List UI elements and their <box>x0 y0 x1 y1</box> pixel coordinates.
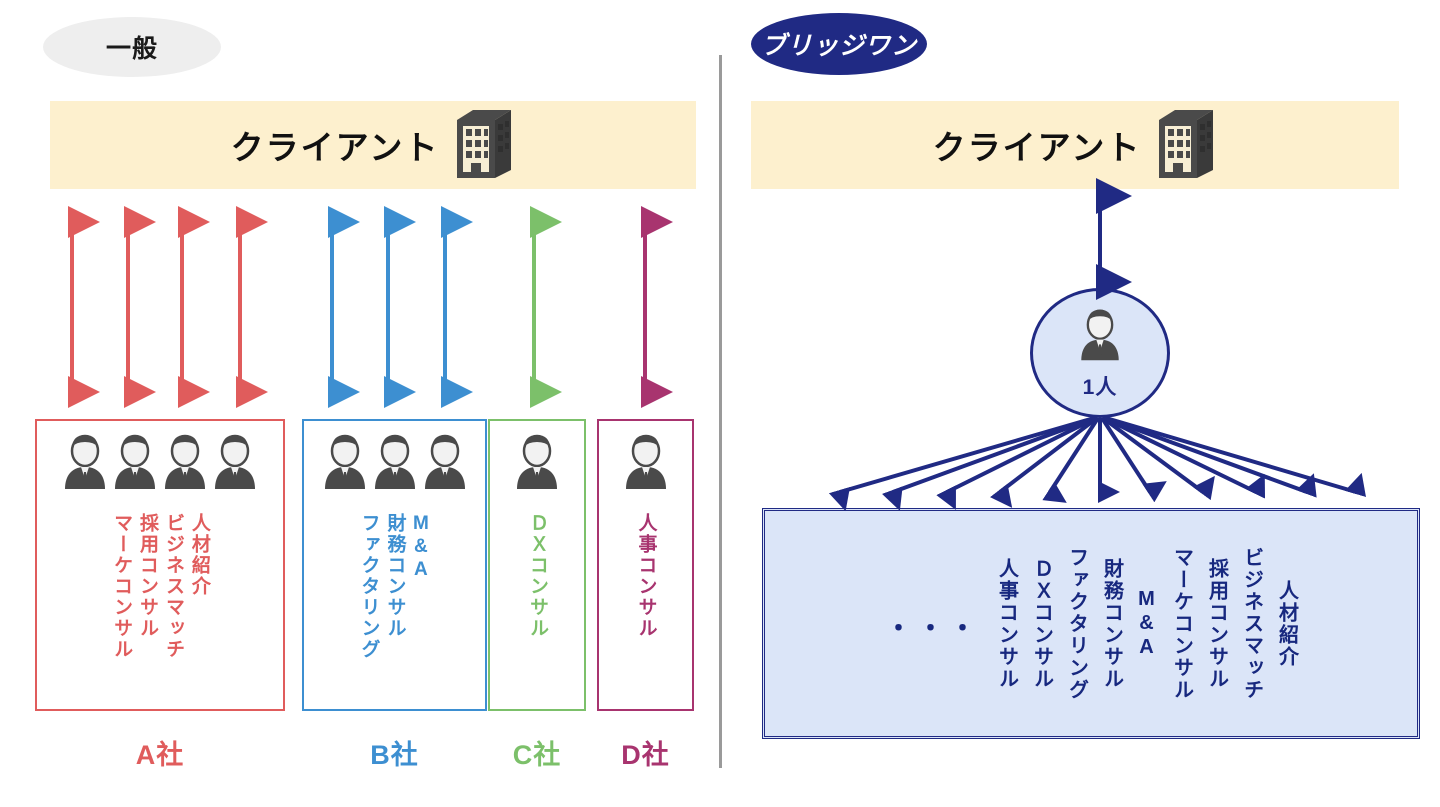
diagram-canvas: 一般 クライアント <box>0 0 1440 807</box>
businessperson-icon <box>515 431 559 498</box>
company-name-d: D社 <box>597 733 694 772</box>
service-label: ビジネスマッチ <box>1241 547 1262 701</box>
services-box-bridgeone: 人材紹介 ビジネスマッチ 採用コンサル マーケコンサル M&A 財務コンサル フ… <box>762 508 1420 739</box>
service-label: 採用コンサル <box>137 513 157 703</box>
company-b-person-group <box>304 431 485 498</box>
businessperson-icon <box>323 431 367 498</box>
service-label: 人事コンサル <box>996 558 1017 690</box>
company-name-c: C社 <box>488 733 586 772</box>
office-building-icon <box>453 104 515 187</box>
service-label: マーケコンサル <box>1171 547 1192 701</box>
businessperson-icon <box>1077 306 1123 369</box>
company-box-b: M&A 財務コンサル ファクタリング <box>302 419 487 711</box>
businessperson-icon <box>113 431 157 498</box>
company-d-service-labels: 人事コンサル <box>599 513 692 703</box>
services-more-indicator: ・・・ <box>885 608 981 645</box>
arrow-group-company-a <box>72 222 240 392</box>
hub-count-label: 1人 <box>1083 371 1118 401</box>
businessperson-icon <box>213 431 257 498</box>
section-badge-brand: ブリッジワン <box>751 13 927 75</box>
panel-divider <box>719 55 722 768</box>
arrow-group-company-b <box>332 222 445 392</box>
businessperson-icon <box>423 431 467 498</box>
company-d-person-group <box>599 431 692 498</box>
service-label: 人材紹介 <box>189 513 209 703</box>
services-label-group: 人材紹介 ビジネスマッチ 採用コンサル マーケコンサル M&A 財務コンサル フ… <box>771 517 1411 730</box>
businessperson-icon <box>373 431 417 498</box>
company-c-service-labels: ＤＸコンサル <box>490 513 584 703</box>
service-label: 採用コンサル <box>1206 558 1227 690</box>
company-box-a: 人材紹介 ビジネスマッチ 採用コンサル マーケコンサル <box>35 419 285 711</box>
hub-node-single-person: 1人 <box>1030 288 1170 418</box>
section-badge-brand-label: ブリッジワン <box>761 26 917 62</box>
service-label: M&A <box>410 513 430 703</box>
section-badge-general: 一般 <box>43 17 221 77</box>
service-label: ＤＸコンサル <box>527 513 547 703</box>
service-label: 人材紹介 <box>1276 580 1297 668</box>
company-c-person-group <box>490 431 584 498</box>
service-label: ビジネスマッチ <box>163 513 183 703</box>
client-label-right: クライアント <box>933 121 1142 169</box>
company-a-person-group <box>37 431 283 498</box>
section-badge-general-label: 一般 <box>106 29 158 65</box>
company-a-service-labels: 人材紹介 ビジネスマッチ 採用コンサル マーケコンサル <box>37 513 283 703</box>
service-label: ファクタリング <box>1066 547 1087 701</box>
businessperson-icon <box>63 431 107 498</box>
office-building-icon <box>1155 104 1217 187</box>
client-label-left: クライアント <box>231 121 440 169</box>
company-name-b: B社 <box>302 733 487 772</box>
service-label: 財務コンサル <box>385 513 405 703</box>
service-label: ＤＸコンサル <box>1031 558 1052 690</box>
company-b-service-labels: M&A 財務コンサル ファクタリング <box>304 513 485 703</box>
businessperson-icon <box>624 431 668 498</box>
arrow-fan-hub-to-services <box>840 418 1356 492</box>
company-name-a: A社 <box>35 733 285 772</box>
service-label: 人事コンサル <box>636 513 656 703</box>
service-label: マーケコンサル <box>111 513 131 703</box>
client-banner-left: クライアント <box>50 101 696 189</box>
company-box-c: ＤＸコンサル <box>488 419 586 711</box>
client-banner-right: クライアント <box>751 101 1399 189</box>
service-label: M&A <box>1136 588 1157 660</box>
service-label: 財務コンサル <box>1101 558 1122 690</box>
company-box-d: 人事コンサル <box>597 419 694 711</box>
service-label: ファクタリング <box>359 513 379 703</box>
businessperson-icon <box>163 431 207 498</box>
